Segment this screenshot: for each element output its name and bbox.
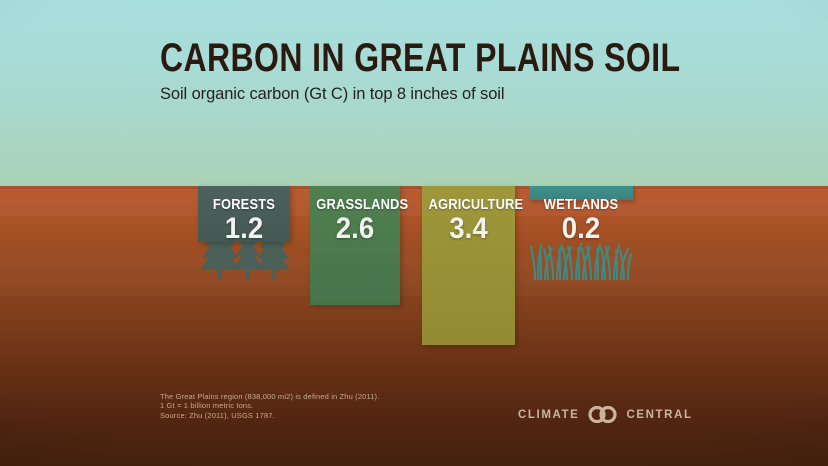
climate-central-logo[interactable]: CLIMATE CENTRAL xyxy=(518,406,693,423)
bar-grasslands-fill xyxy=(310,186,400,305)
footnote-line-2: 1 Gt = 1 billion metric tons. xyxy=(160,401,379,410)
logo-word-climate: CLIMATE xyxy=(518,409,579,421)
page-subtitle: Soil organic carbon (Gt C) in top 8 inch… xyxy=(160,84,504,104)
bar-forests[interactable]: FORESTS 1.2 xyxy=(198,186,290,242)
soil-background xyxy=(0,186,828,466)
reeds-icon xyxy=(529,242,633,280)
bar-wetlands[interactable]: WETLANDS 0.2 xyxy=(529,186,633,200)
bar-agriculture[interactable]: AGRICULTURE 3.4 xyxy=(422,186,515,345)
logo-word-central: CENTRAL xyxy=(626,409,692,421)
infographic-canvas: FORESTS 1.2 GRASSLANDS 2.6 AGRICULTURE 3… xyxy=(0,0,828,466)
bar-wetlands-fill xyxy=(529,186,633,200)
bar-grasslands[interactable]: GRASSLANDS 2.6 xyxy=(310,186,400,305)
footnote-line-3: Source: Zhu (2011), USGS 1787. xyxy=(160,411,379,420)
footnote-line-1: The Great Plains region (838,000 mi2) is… xyxy=(160,392,379,401)
interlocking-rings-icon xyxy=(586,406,619,423)
page-title: CARBON IN GREAT PLAINS SOIL xyxy=(160,38,680,78)
bar-agriculture-fill xyxy=(422,186,515,345)
footnotes: The Great Plains region (838,000 mi2) is… xyxy=(160,392,379,420)
bar-forests-fill xyxy=(198,186,290,242)
